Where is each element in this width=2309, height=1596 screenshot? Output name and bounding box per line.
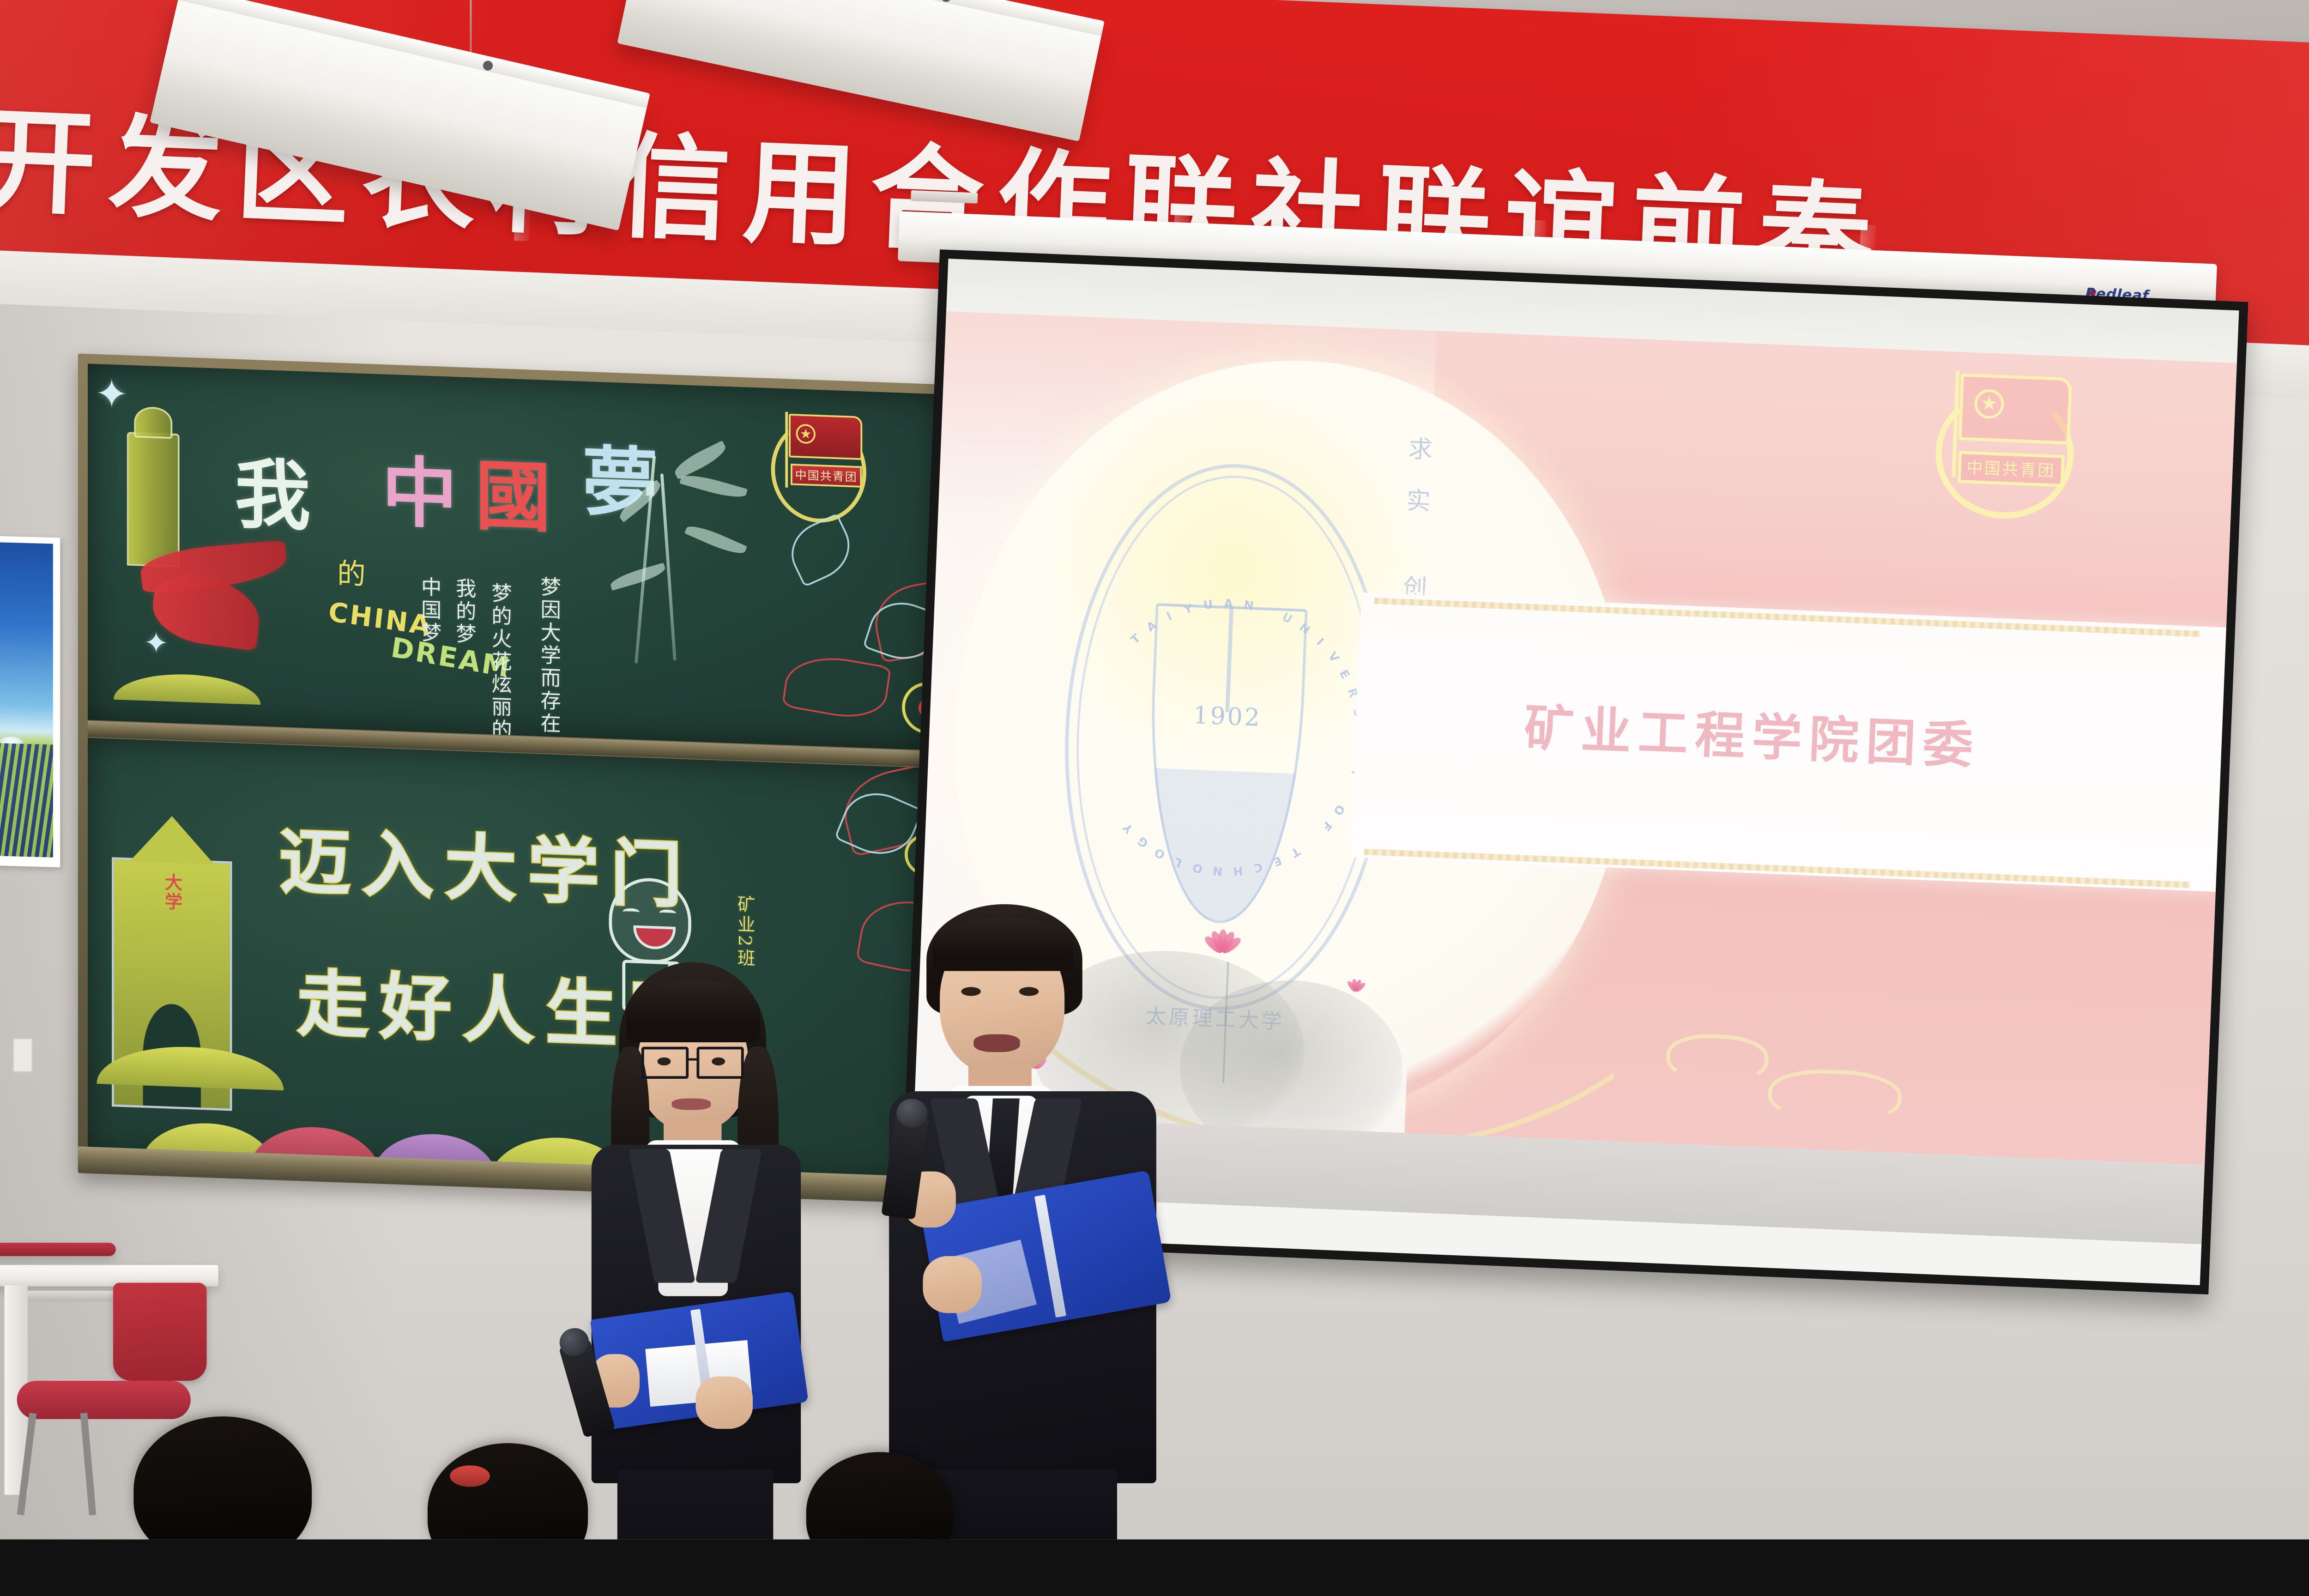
chair-back — [113, 1283, 207, 1381]
bamboo-leaf — [679, 471, 747, 502]
chalk-class-label: 矿业2班 — [734, 895, 754, 969]
hair-fringe — [626, 980, 760, 1042]
folder-spine — [1034, 1195, 1066, 1318]
tower-top — [134, 406, 172, 439]
classroom-scene: 开发区农村信用合作联社联谊前奏 ✦ ✦ — [0, 0, 2309, 1539]
red-flag-icon — [1958, 373, 2073, 444]
blackboard-bottom-panel: 大学 迈入大学门 走好人生路 矿业2班 — [88, 738, 973, 1186]
poster-field-stripes — [0, 743, 53, 857]
presenter-female — [574, 962, 824, 1539]
hair-fringe — [933, 918, 1074, 971]
badge-band: 中国共青团 — [791, 464, 862, 488]
emblem-band-text: 中国共青团 — [1958, 451, 2065, 487]
hand-left — [923, 1256, 981, 1313]
eye — [961, 987, 980, 996]
eye — [712, 1058, 725, 1065]
chalk-headline-5: 夢 — [582, 444, 658, 522]
lotus-flower — [1341, 973, 1365, 991]
cartoon-eye — [659, 909, 676, 917]
hill-drawing — [114, 672, 260, 705]
trousers — [617, 1470, 774, 1539]
chalk-headline-4: 國 — [475, 458, 551, 536]
poster-image — [0, 542, 53, 858]
cartoon-head — [609, 877, 691, 964]
youth-league-emblem-icon: 中国共青团 — [1928, 369, 2081, 521]
glasses-bridge — [688, 1058, 698, 1061]
vine-swirl — [781, 513, 861, 587]
mouth-open — [973, 1034, 1020, 1052]
chalk-vcol-4: 中国梦 — [418, 576, 441, 645]
eye — [1019, 987, 1039, 996]
blackboard: ✦ ✦ 我 的 中 國 夢 CHINA DREAM 梦因大学而存在 梦的火花炫丽… — [78, 353, 982, 1205]
lamp-wire — [470, 0, 472, 53]
chalk-latin-china: CHINA — [327, 598, 433, 640]
chalk-headline-3: 中 — [382, 454, 458, 533]
star-icon: ★ — [796, 424, 816, 444]
gate-label: 大学 — [159, 873, 185, 912]
flag-pole — [785, 412, 788, 488]
mouth — [671, 1098, 711, 1110]
framed-poster — [0, 536, 60, 867]
red-flag-icon: ★ — [789, 414, 862, 460]
star-drawing: ✦ — [144, 628, 169, 658]
tower-drawing — [127, 432, 180, 567]
eye — [658, 1058, 671, 1065]
bamboo-leaf — [671, 441, 729, 479]
chalk-vcol-1: 梦因大学而存在 — [538, 576, 561, 736]
cartoon-eye — [623, 908, 640, 916]
seal-shield-bar — [1226, 606, 1234, 712]
lotus-flower — [1197, 920, 1240, 953]
cartoon-mouth — [634, 925, 676, 950]
gate-roof — [130, 815, 214, 864]
blackboard-top-panel: ✦ ✦ 我 的 中 國 夢 CHINA DREAM 梦因大学而存在 梦的火花炫丽… — [88, 363, 973, 751]
hair-accessory — [450, 1465, 490, 1487]
chalk-vcol-3: 我的梦 — [453, 577, 476, 646]
vine-swirl — [782, 649, 891, 724]
presenter-male — [877, 904, 1180, 1539]
chalk-vcol-2: 梦的火花炫丽的迸出 — [489, 582, 512, 751]
seal-year: 1902 — [1154, 699, 1301, 733]
hand-right — [696, 1376, 753, 1429]
bamboo-leaf — [608, 562, 667, 590]
chair-seat — [17, 1381, 191, 1419]
seal-arc-char: V — [1325, 649, 1342, 665]
chalk-headline-1: 我 — [235, 456, 310, 535]
star-drawing: ✦ — [95, 374, 128, 415]
wall-socket — [12, 1038, 33, 1072]
star-icon — [1974, 388, 2004, 419]
seal-arc-char: E — [1336, 668, 1352, 681]
league-badge-drawing: ★ 中国共青团 — [768, 409, 870, 524]
seal-arc-char: T — [1128, 631, 1143, 647]
seal-arc-char: I — [1314, 635, 1326, 648]
chalk-headline-2: 的 — [337, 560, 366, 589]
chair-back-rear — [0, 1243, 116, 1256]
bamboo-leaf — [684, 521, 747, 559]
